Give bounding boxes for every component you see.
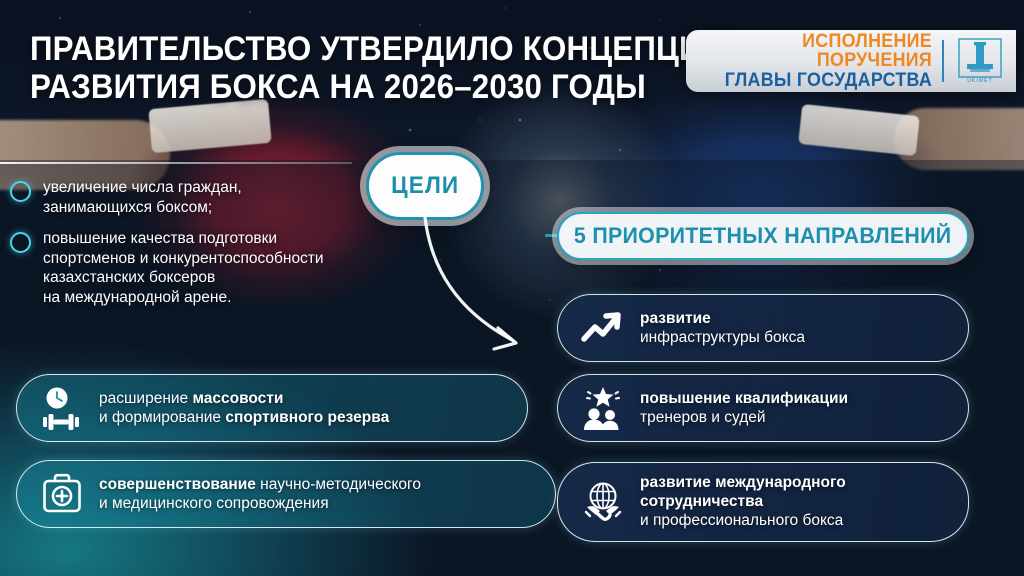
list-item: увеличение числа граждан,занимающихся бо… bbox=[10, 178, 410, 217]
priority-card-international: развитие международного сотрудничества и… bbox=[557, 462, 969, 542]
priority-card-coach-qualification: повышение квалификации тренеров и судей bbox=[557, 374, 969, 442]
priority-card-bold-line1: развитие международного bbox=[640, 474, 846, 491]
priority-card-rest-line1: научно-методического bbox=[256, 476, 421, 493]
growth-arrow-icon bbox=[580, 305, 626, 351]
priority-card-bold: развитие bbox=[640, 310, 711, 327]
goals-list: увеличение числа граждан,занимающихся бо… bbox=[10, 178, 410, 319]
priority-card-rest: и профессионального бокса bbox=[640, 512, 843, 529]
priority-card-rest: инфраструктуры бокса bbox=[640, 329, 805, 346]
priority-card-line1-pre: расширение bbox=[99, 390, 192, 407]
badge-line-2: ГЛАВЫ ГОСУДАРСТВА bbox=[716, 71, 932, 90]
priorities-header-label: 5 ПРИОРИТЕТНЫХ НАПРАВЛЕНИЙ bbox=[574, 223, 951, 249]
bullet-ring-icon bbox=[10, 232, 31, 253]
priority-card-rest: тренеров и судей bbox=[640, 409, 766, 426]
page-title: ПРАВИТЕЛЬСТВО УТВЕРДИЛО КОНЦЕПЦИЮ РАЗВИТ… bbox=[30, 30, 628, 106]
priority-card-bold: совершенствование bbox=[99, 476, 256, 493]
medical-kit-icon bbox=[39, 471, 85, 517]
badge-divider bbox=[942, 40, 944, 82]
priority-card-text: развитие инфраструктуры бокса bbox=[640, 309, 805, 347]
priority-card-rest-line2: и медицинского сопровождения bbox=[99, 495, 329, 512]
goals-pill-label: ЦЕЛИ bbox=[391, 172, 459, 200]
svg-text:ÜKIMET: ÜKIMET bbox=[967, 77, 993, 84]
page-title-line-1: ПРАВИТЕЛЬСТВО УТВЕРДИЛО КОНЦЕПЦИЮ bbox=[30, 30, 628, 68]
priority-card-text: развитие международного сотрудничества и… bbox=[640, 473, 846, 531]
priority-card-line1-bold: массовости bbox=[192, 390, 283, 407]
badge-text: ИСПОЛНЕНИЕ ПОРУЧЕНИЯ ГЛАВЫ ГОСУДАРСТВА bbox=[716, 32, 932, 90]
priorities-header: 5 ПРИОРИТЕТНЫХ НАПРАВЛЕНИЙ bbox=[557, 212, 969, 260]
title-divider bbox=[0, 162, 352, 164]
infographic-canvas: ПРАВИТЕЛЬСТВО УТВЕРДИЛО КОНЦЕПЦИЮ РАЗВИТ… bbox=[0, 0, 1024, 576]
globe-handshake-icon bbox=[580, 479, 626, 525]
priority-card-medical-support: совершенствование научно-методического и… bbox=[16, 460, 556, 528]
list-item: повышение качества подготовкиспортсменов… bbox=[10, 229, 410, 307]
priority-card-text: повышение квалификации тренеров и судей bbox=[640, 389, 848, 427]
priority-card-line2-pre: и формирование bbox=[99, 409, 225, 426]
clock-dumbbell-icon bbox=[39, 385, 85, 431]
priority-card-bold: повышение квалификации bbox=[640, 390, 848, 407]
priority-card-infrastructure: развитие инфраструктуры бокса bbox=[557, 294, 969, 362]
presidential-order-badge: ИСПОЛНЕНИЕ ПОРУЧЕНИЯ ГЛАВЫ ГОСУДАРСТВА Ü… bbox=[686, 30, 1016, 92]
government-logo-icon: ÜKIMET bbox=[954, 36, 1006, 86]
badge-line-1: ИСПОЛНЕНИЕ ПОРУЧЕНИЯ bbox=[716, 32, 932, 71]
priority-card-bold-line2: сотрудничества bbox=[640, 493, 763, 510]
goal-text-1: увеличение числа граждан,занимающихся бо… bbox=[43, 178, 242, 217]
bullet-ring-icon bbox=[10, 181, 31, 202]
priority-card-mass-participation: расширение массовости и формирование спо… bbox=[16, 374, 528, 442]
goal-text-2: повышение качества подготовкиспортсменов… bbox=[43, 229, 324, 307]
priority-card-text: совершенствование научно-методического и… bbox=[99, 475, 421, 513]
priority-card-line2-bold: спортивного резерва bbox=[225, 409, 389, 426]
priority-card-text: расширение массовости и формирование спо… bbox=[99, 389, 389, 427]
star-people-icon bbox=[580, 385, 626, 431]
page-title-line-2: РАЗВИТИЯ БОКСА НА 2026–2030 ГОДЫ bbox=[30, 68, 628, 106]
